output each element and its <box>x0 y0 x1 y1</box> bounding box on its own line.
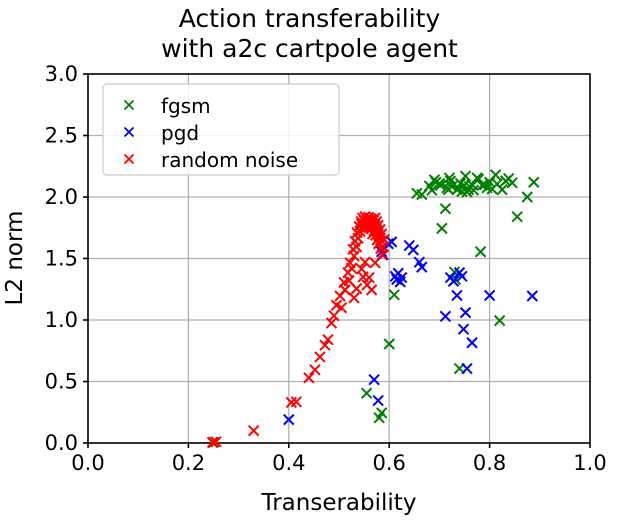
data-point-marker <box>476 247 486 257</box>
data-point-marker <box>437 223 447 233</box>
y-tick-label: 3.0 <box>45 62 78 86</box>
x-axis-label: Transerability <box>261 490 417 516</box>
data-point-marker <box>461 308 471 318</box>
x-tick-label: 0.4 <box>272 451 305 475</box>
data-point-marker <box>367 285 377 295</box>
legend[interactable]: fgsmpgdrandom noise <box>103 84 339 175</box>
y-tick-label: 1.0 <box>45 308 78 332</box>
data-point-marker <box>408 245 418 255</box>
data-point-marker <box>462 364 472 374</box>
scatter-plot: 0.00.20.40.60.81.00.00.51.01.52.02.53.0 … <box>0 0 619 521</box>
x-tick-label: 1.0 <box>573 451 606 475</box>
x-tick-label: 0.8 <box>473 451 506 475</box>
data-point-marker <box>491 170 501 180</box>
data-point-marker <box>364 273 374 283</box>
legend-label-random-noise: random noise <box>161 148 298 172</box>
legend-label-fgsm: fgsm <box>161 94 211 118</box>
x-tick-label: 0.6 <box>372 451 405 475</box>
data-point-marker <box>527 291 537 301</box>
y-tick-label: 0.0 <box>45 431 78 455</box>
data-point-marker <box>389 290 399 300</box>
data-point-marker <box>310 365 320 375</box>
data-point-marker <box>315 352 325 362</box>
legend-label-pgd: pgd <box>161 121 199 145</box>
data-point-marker <box>349 293 359 303</box>
data-point-marker <box>467 338 477 348</box>
data-point-marker <box>529 177 539 187</box>
data-point-marker <box>512 212 522 222</box>
data-point-marker <box>373 396 383 406</box>
data-point-marker <box>352 284 362 294</box>
data-point-marker <box>459 324 469 334</box>
y-tick-label: 2.5 <box>45 124 78 148</box>
y-tick-label: 2.0 <box>45 185 78 209</box>
series-pgd <box>284 237 537 425</box>
data-point-marker <box>452 290 462 300</box>
data-point-marker <box>370 258 380 268</box>
data-point-marker <box>497 185 507 195</box>
data-point-marker <box>340 285 350 295</box>
data-point-marker <box>440 204 450 214</box>
y-axis-label: L2 norm <box>2 211 28 306</box>
y-tick-label: 0.5 <box>45 370 78 394</box>
x-tick-label: 0.2 <box>172 451 205 475</box>
data-point-marker <box>249 426 259 436</box>
data-point-marker <box>362 388 372 398</box>
data-point-marker <box>369 375 379 385</box>
y-tick-label: 1.5 <box>45 247 78 271</box>
figure: Action transferabilitywith a2c cartpole … <box>0 0 619 521</box>
series-random-noise <box>208 212 390 448</box>
